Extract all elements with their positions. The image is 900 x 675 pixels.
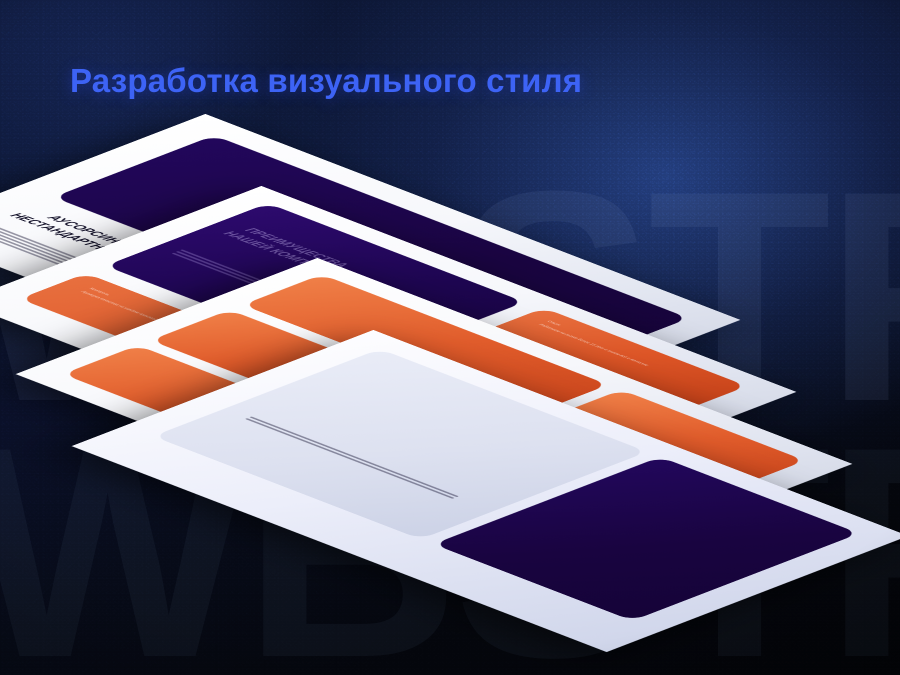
isometric-slide-stack: АУСОРСИНГ ПРОИЗВОДСТВА НЕСТАНДАРТНЫХ ИЗД…: [0, 0, 900, 675]
page-title: Разработка визуального стиля: [70, 62, 582, 100]
presentation-slide: WBSTR WBSTR Разработка визуального стиля…: [0, 0, 900, 675]
